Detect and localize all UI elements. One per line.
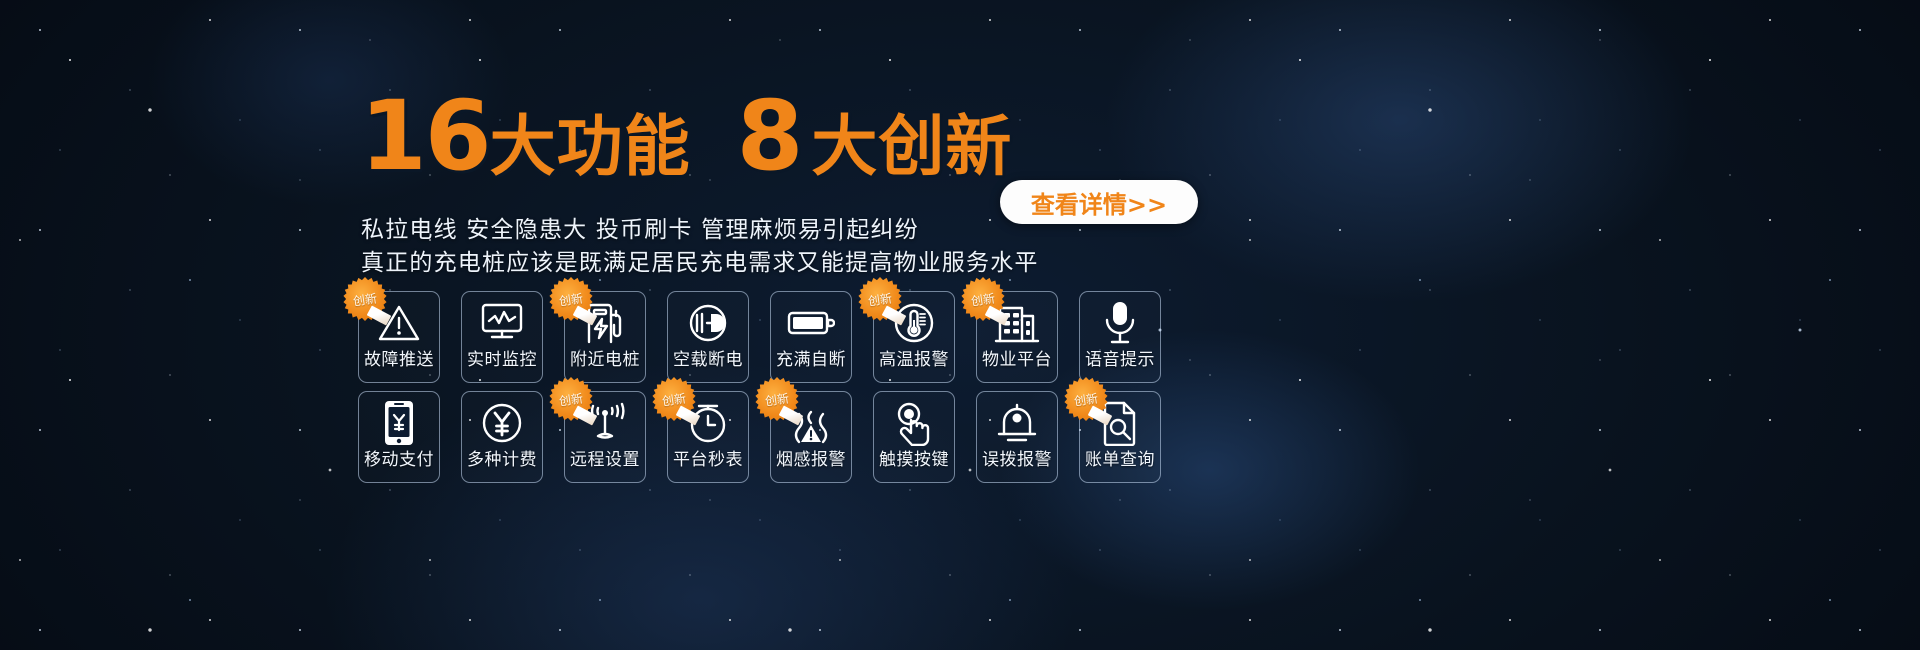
innovation-badge-label: 创新 <box>661 389 687 409</box>
headline-number-16: 16 <box>360 88 490 184</box>
innovation-badge: 创新 <box>549 277 593 321</box>
feature-row-2: 移动支付多种计费创新远程设置创新平台秒表创新烟感报警触摸按键误拨报警创新账单查询 <box>358 391 1161 483</box>
innovation-badge-label: 创新 <box>1073 389 1099 409</box>
feature-card-label: 语音提示 <box>1085 352 1155 369</box>
plug-disconnect-icon <box>668 294 748 352</box>
view-details-label: 查看详情>> <box>1031 185 1167 220</box>
feature-card-label: 触摸按键 <box>879 452 949 469</box>
feature-card-antenna-signal[interactable]: 创新远程设置 <box>564 391 646 483</box>
feature-card-label: 平台秒表 <box>673 452 743 469</box>
innovation-badge: 创新 <box>858 277 902 321</box>
feature-card-battery-full[interactable]: 充满自断 <box>770 291 852 383</box>
hero-subtitle-line-1: 私拉电线 安全隐患大 投币刷卡 管理麻烦易引起纠纷 <box>361 210 919 244</box>
feature-card-yuan-circle[interactable]: 多种计费 <box>461 391 543 483</box>
innovation-badge: 创新 <box>961 277 1005 321</box>
feature-card-label: 充满自断 <box>776 352 846 369</box>
innovation-badge-label: 创新 <box>352 289 378 309</box>
feature-card-microphone[interactable]: 语音提示 <box>1079 291 1161 383</box>
innovation-badge-label: 创新 <box>558 389 584 409</box>
innovation-badge: 创新 <box>755 377 799 421</box>
feature-card-charging-station[interactable]: 创新附近电桩 <box>564 291 646 383</box>
view-details-button[interactable]: 查看详情>> <box>1000 180 1198 224</box>
alarm-bell-icon <box>977 394 1057 452</box>
feature-card-label: 多种计费 <box>467 452 537 469</box>
feature-card-mobile-payment[interactable]: 移动支付 <box>358 391 440 483</box>
feature-card-label: 移动支付 <box>364 452 434 469</box>
hero-subtitle-line-2: 真正的充电桩应该是既满足居民充电需求又能提高物业服务水平 <box>361 243 1039 277</box>
feature-card-label: 实时监控 <box>467 352 537 369</box>
feature-card-label: 物业平台 <box>982 352 1052 369</box>
innovation-badge: 创新 <box>343 277 387 321</box>
feature-card-bill-search[interactable]: 创新账单查询 <box>1079 391 1161 483</box>
feature-card-smoke-alarm[interactable]: 创新烟感报警 <box>770 391 852 483</box>
feature-card-label: 远程设置 <box>570 452 640 469</box>
monitor-waveform-icon <box>462 294 542 352</box>
feature-card-label: 误拨报警 <box>982 452 1052 469</box>
headline-number-8: 8 <box>737 88 802 184</box>
feature-card-plug-disconnect[interactable]: 空载断电 <box>667 291 749 383</box>
microphone-icon <box>1080 294 1160 352</box>
innovation-badge-label: 创新 <box>867 289 893 309</box>
feature-card-label: 账单查询 <box>1085 452 1155 469</box>
hero-headline: 16 大功能 8 大创新 <box>360 88 1012 184</box>
feature-card-label: 故障推送 <box>364 352 434 369</box>
feature-card-label: 高温报警 <box>879 352 949 369</box>
feature-row-1: 创新故障推送实时监控创新附近电桩空载断电充满自断创新高温报警创新物业平台语音提示 <box>358 291 1161 383</box>
hero-banner: 16 大功能 8 大创新 私拉电线 安全隐患大 投币刷卡 管理麻烦易引起纠纷 真… <box>0 0 1920 650</box>
feature-card-label: 空载断电 <box>673 352 743 369</box>
innovation-badge-label: 创新 <box>764 389 790 409</box>
battery-full-icon <box>771 294 851 352</box>
headline-text-innovations: 大创新 <box>811 114 1012 180</box>
yuan-circle-icon <box>462 394 542 452</box>
feature-card-monitor-waveform[interactable]: 实时监控 <box>461 291 543 383</box>
feature-card-warning-triangle[interactable]: 创新故障推送 <box>358 291 440 383</box>
headline-text-functions: 大功能 <box>490 114 691 180</box>
mobile-payment-icon <box>359 394 439 452</box>
innovation-badge: 创新 <box>652 377 696 421</box>
feature-card-label: 烟感报警 <box>776 452 846 469</box>
innovation-badge: 创新 <box>1064 377 1108 421</box>
touch-hand-icon <box>874 394 954 452</box>
innovation-badge: 创新 <box>549 377 593 421</box>
feature-card-label: 附近电桩 <box>570 352 640 369</box>
feature-card-thermometer[interactable]: 创新高温报警 <box>873 291 955 383</box>
innovation-badge-label: 创新 <box>970 289 996 309</box>
innovation-badge-label: 创新 <box>558 289 584 309</box>
feature-grid: 创新故障推送实时监控创新附近电桩空载断电充满自断创新高温报警创新物业平台语音提示… <box>358 291 1161 483</box>
feature-card-alarm-bell[interactable]: 误拨报警 <box>976 391 1058 483</box>
feature-card-touch-hand[interactable]: 触摸按键 <box>873 391 955 483</box>
feature-card-stopwatch-clock[interactable]: 创新平台秒表 <box>667 391 749 483</box>
feature-card-building[interactable]: 创新物业平台 <box>976 291 1058 383</box>
